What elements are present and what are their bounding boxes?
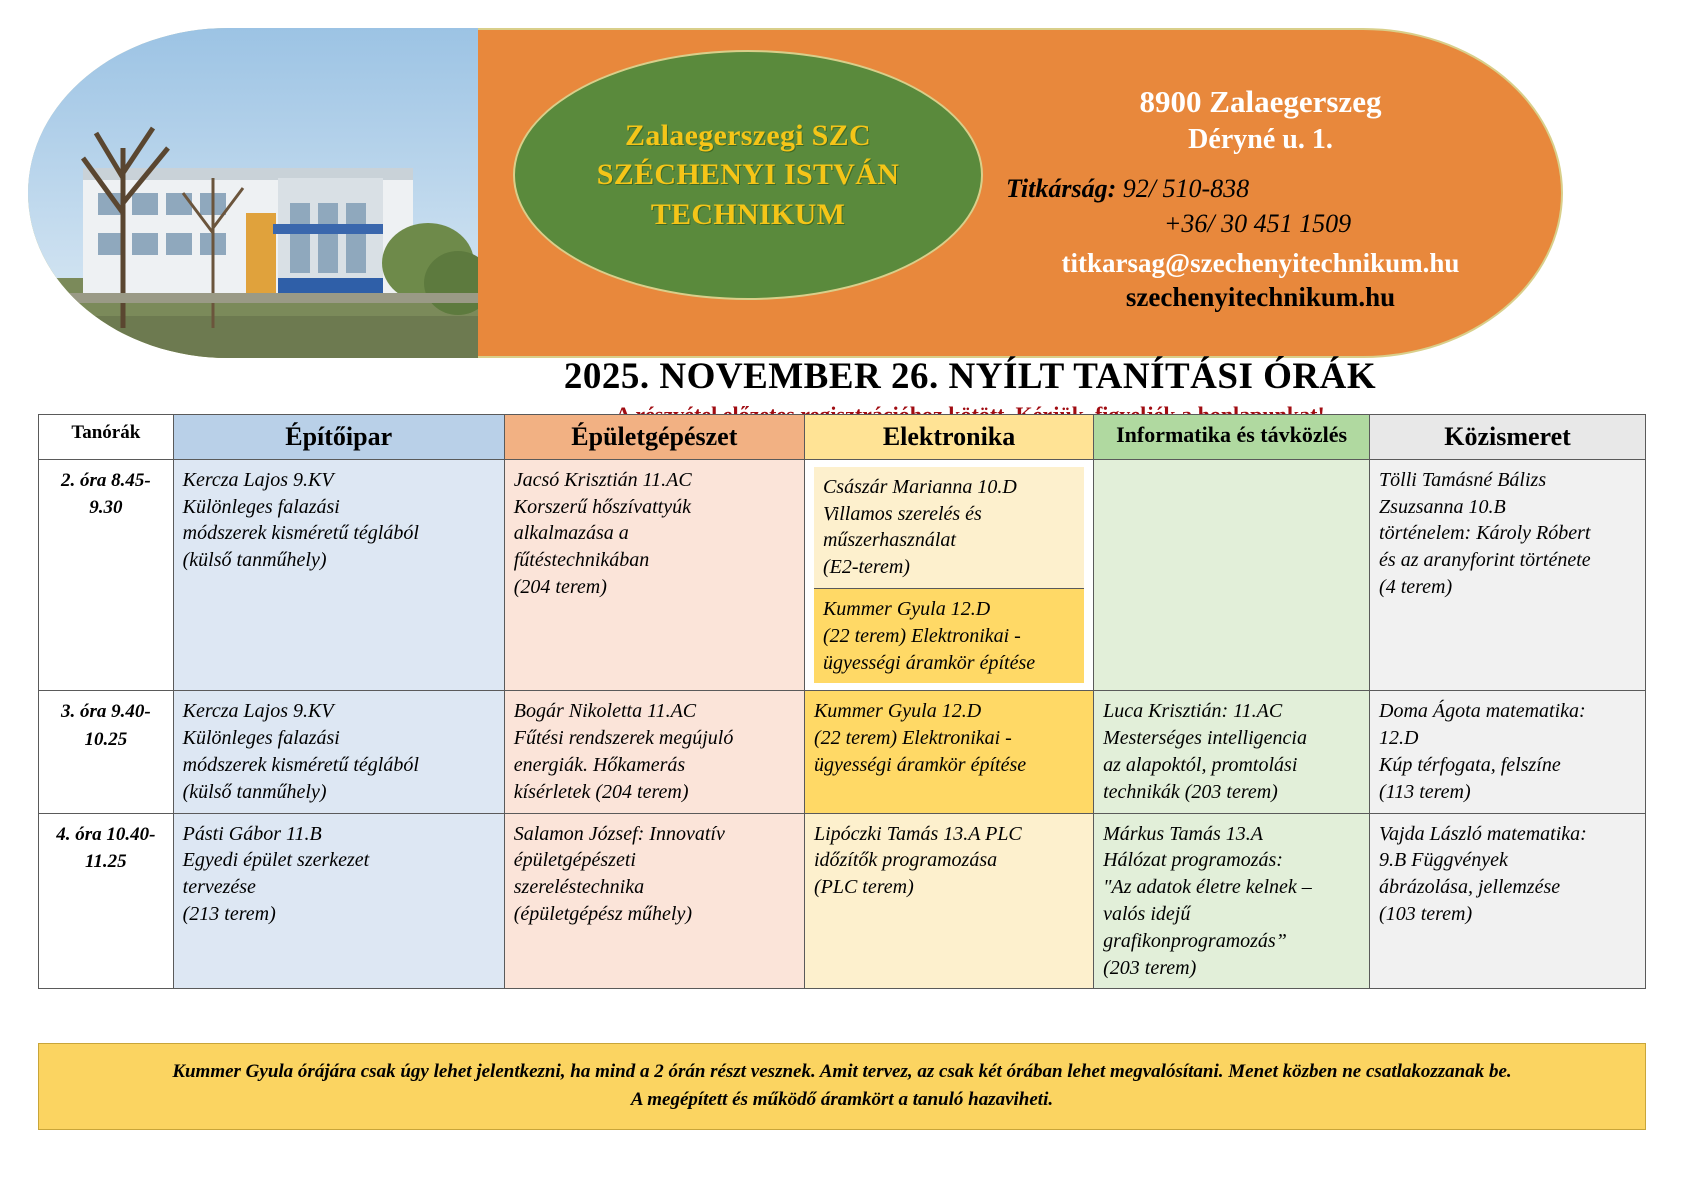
cell-text: Vajda László matematika: 9.B Függvények … [1379, 821, 1636, 928]
cell-text: Salamon József: Innovatív épületgépészet… [514, 821, 795, 928]
phone-row-1: Titkárság: 92/ 510-838 [1006, 172, 1533, 207]
cell-elektronika-highlight: Kummer Gyula 12.D (22 terem) Elektronika… [804, 691, 1093, 813]
row-time-label: 4. óra 10.40-11.25 [39, 813, 174, 989]
cell-text: Márkus Tamás 13.A Hálózat programozás: "… [1103, 821, 1360, 982]
cell-text: Bogár Nikoletta 11.AC Fűtési rendszerek … [514, 698, 795, 805]
footer-line-2: A megépített és működő áramkört a tanuló… [79, 1086, 1605, 1114]
website-url[interactable]: szechenyitechnikum.hu [988, 280, 1533, 315]
table-row: 3. óra 9.40-10.25 Kercza Lajos 9.KV Külö… [39, 691, 1646, 813]
cell-text: Luca Krisztián: 11.AC Mesterséges intell… [1103, 698, 1360, 805]
school-logo-ellipse: Zalaegerszegi SZC SZÉCHENYI ISTVÁN TECHN… [513, 50, 983, 300]
cell-epuletgepeszet: Jacsó Krisztián 11.AC Korszerű hőszívatt… [504, 459, 804, 691]
page-title: 2025. NOVEMBER 26. NYÍLT TANÍTÁSI ÓRÁK [470, 355, 1470, 398]
logo-line-3: TECHNIKUM [651, 195, 845, 235]
cell-informatika: Márkus Tamás 13.A Hálózat programozás: "… [1094, 813, 1370, 989]
header-elektronika: Elektronika [804, 415, 1093, 460]
address-city: 8900 Zalaegerszeg [988, 83, 1533, 122]
header-informatika: Informatika és távközlés [1094, 415, 1370, 460]
schedule-table: Tanórák Építőipar Épületgépészet Elektro… [38, 414, 1646, 989]
cell-text: Pásti Gábor 11.B Egyedi épület szerkezet… [183, 821, 495, 928]
phone-secondary: +36/ 30 451 1509 [1006, 207, 1533, 242]
school-building-photo [28, 28, 478, 358]
table-row: 4. óra 10.40-11.25 Pásti Gábor 11.B Egye… [39, 813, 1646, 989]
table-row: 2. óra 8.45-9.30 Kercza Lajos 9.KV Külön… [39, 459, 1646, 691]
email-address[interactable]: titkarsag@szechenyitechnikum.hu [988, 246, 1533, 281]
cell-kozismeret: Vajda László matematika: 9.B Függvények … [1370, 813, 1646, 989]
header-banner: Zalaegerszegi SZC SZÉCHENYI ISTVÁN TECHN… [28, 28, 1563, 358]
contact-block: 8900 Zalaegerszeg Déryné u. 1. Titkárság… [988, 83, 1533, 315]
cell-informatika: Luca Krisztián: 11.AC Mesterséges intell… [1094, 691, 1370, 813]
cell-epuletgepeszet: Salamon József: Innovatív épületgépészet… [504, 813, 804, 989]
cell-text: Lipóczki Tamás 13.A PLC időzítők program… [814, 821, 1084, 901]
logo-line-1: Zalaegerszegi SZC [625, 116, 871, 156]
header-tanorak: Tanórák [39, 415, 174, 460]
cell-elektronika: Lipóczki Tamás 13.A PLC időzítők program… [804, 813, 1093, 989]
cell-elektronika: Császár Marianna 10.D Villamos szerelés … [804, 459, 1093, 691]
cell-epitoipar: Pásti Gábor 11.B Egyedi épület szerkezet… [173, 813, 504, 989]
cell-text: Kummer Gyula 12.D (22 terem) Elektronika… [823, 596, 1075, 676]
logo-line-2: SZÉCHENYI ISTVÁN [597, 155, 899, 195]
cell-epuletgepeszet: Bogár Nikoletta 11.AC Fűtési rendszerek … [504, 691, 804, 813]
cell-text: Jacsó Krisztián 11.AC Korszerű hőszívatt… [514, 467, 795, 601]
photo-illustration [28, 28, 478, 358]
phone-block: Titkárság: 92/ 510-838 +36/ 30 451 1509 [988, 172, 1533, 242]
table-header-row: Tanórák Építőipar Épületgépészet Elektro… [39, 415, 1646, 460]
cell-epitoipar: Kercza Lajos 9.KV Különleges falazási mó… [173, 459, 504, 691]
phone-primary: 92/ 510-838 [1123, 174, 1249, 203]
cell-text: Kercza Lajos 9.KV Különleges falazási mó… [183, 467, 495, 574]
cell-text: Kercza Lajos 9.KV Különleges falazási mó… [183, 698, 495, 805]
cell-elektronika-part-a: Császár Marianna 10.D Villamos szerelés … [814, 467, 1084, 589]
cell-epitoipar: Kercza Lajos 9.KV Különleges falazási mó… [173, 691, 504, 813]
address-street: Déryné u. 1. [988, 122, 1533, 158]
cell-informatika [1094, 459, 1370, 691]
row-time-label: 2. óra 8.45-9.30 [39, 459, 174, 691]
cell-text: Császár Marianna 10.D Villamos szerelés … [823, 474, 1075, 581]
cell-text: Tölli Tamásné Bálizs Zsuzsanna 10.B tört… [1379, 467, 1636, 601]
header-epitoipar: Építőipar [173, 415, 504, 460]
header-kozismeret: Közismeret [1370, 415, 1646, 460]
cell-text: Doma Ágota matematika: 12.D Kúp térfogat… [1379, 698, 1636, 805]
footer-line-1: Kummer Gyula órájára csak úgy lehet jele… [79, 1058, 1605, 1086]
cell-kozismeret: Tölli Tamásné Bálizs Zsuzsanna 10.B tört… [1370, 459, 1646, 691]
row-time-label: 3. óra 9.40-10.25 [39, 691, 174, 813]
footer-note: Kummer Gyula órájára csak úgy lehet jele… [38, 1043, 1646, 1130]
cell-text: Kummer Gyula 12.D (22 terem) Elektronika… [814, 698, 1084, 778]
cell-elektronika-part-b-highlight: Kummer Gyula 12.D (22 terem) Elektronika… [814, 589, 1084, 683]
header-epuletgepeszet: Épületgépészet [504, 415, 804, 460]
phone-label: Titkárság: [1006, 174, 1116, 203]
cell-kozismeret: Doma Ágota matematika: 12.D Kúp térfogat… [1370, 691, 1646, 813]
